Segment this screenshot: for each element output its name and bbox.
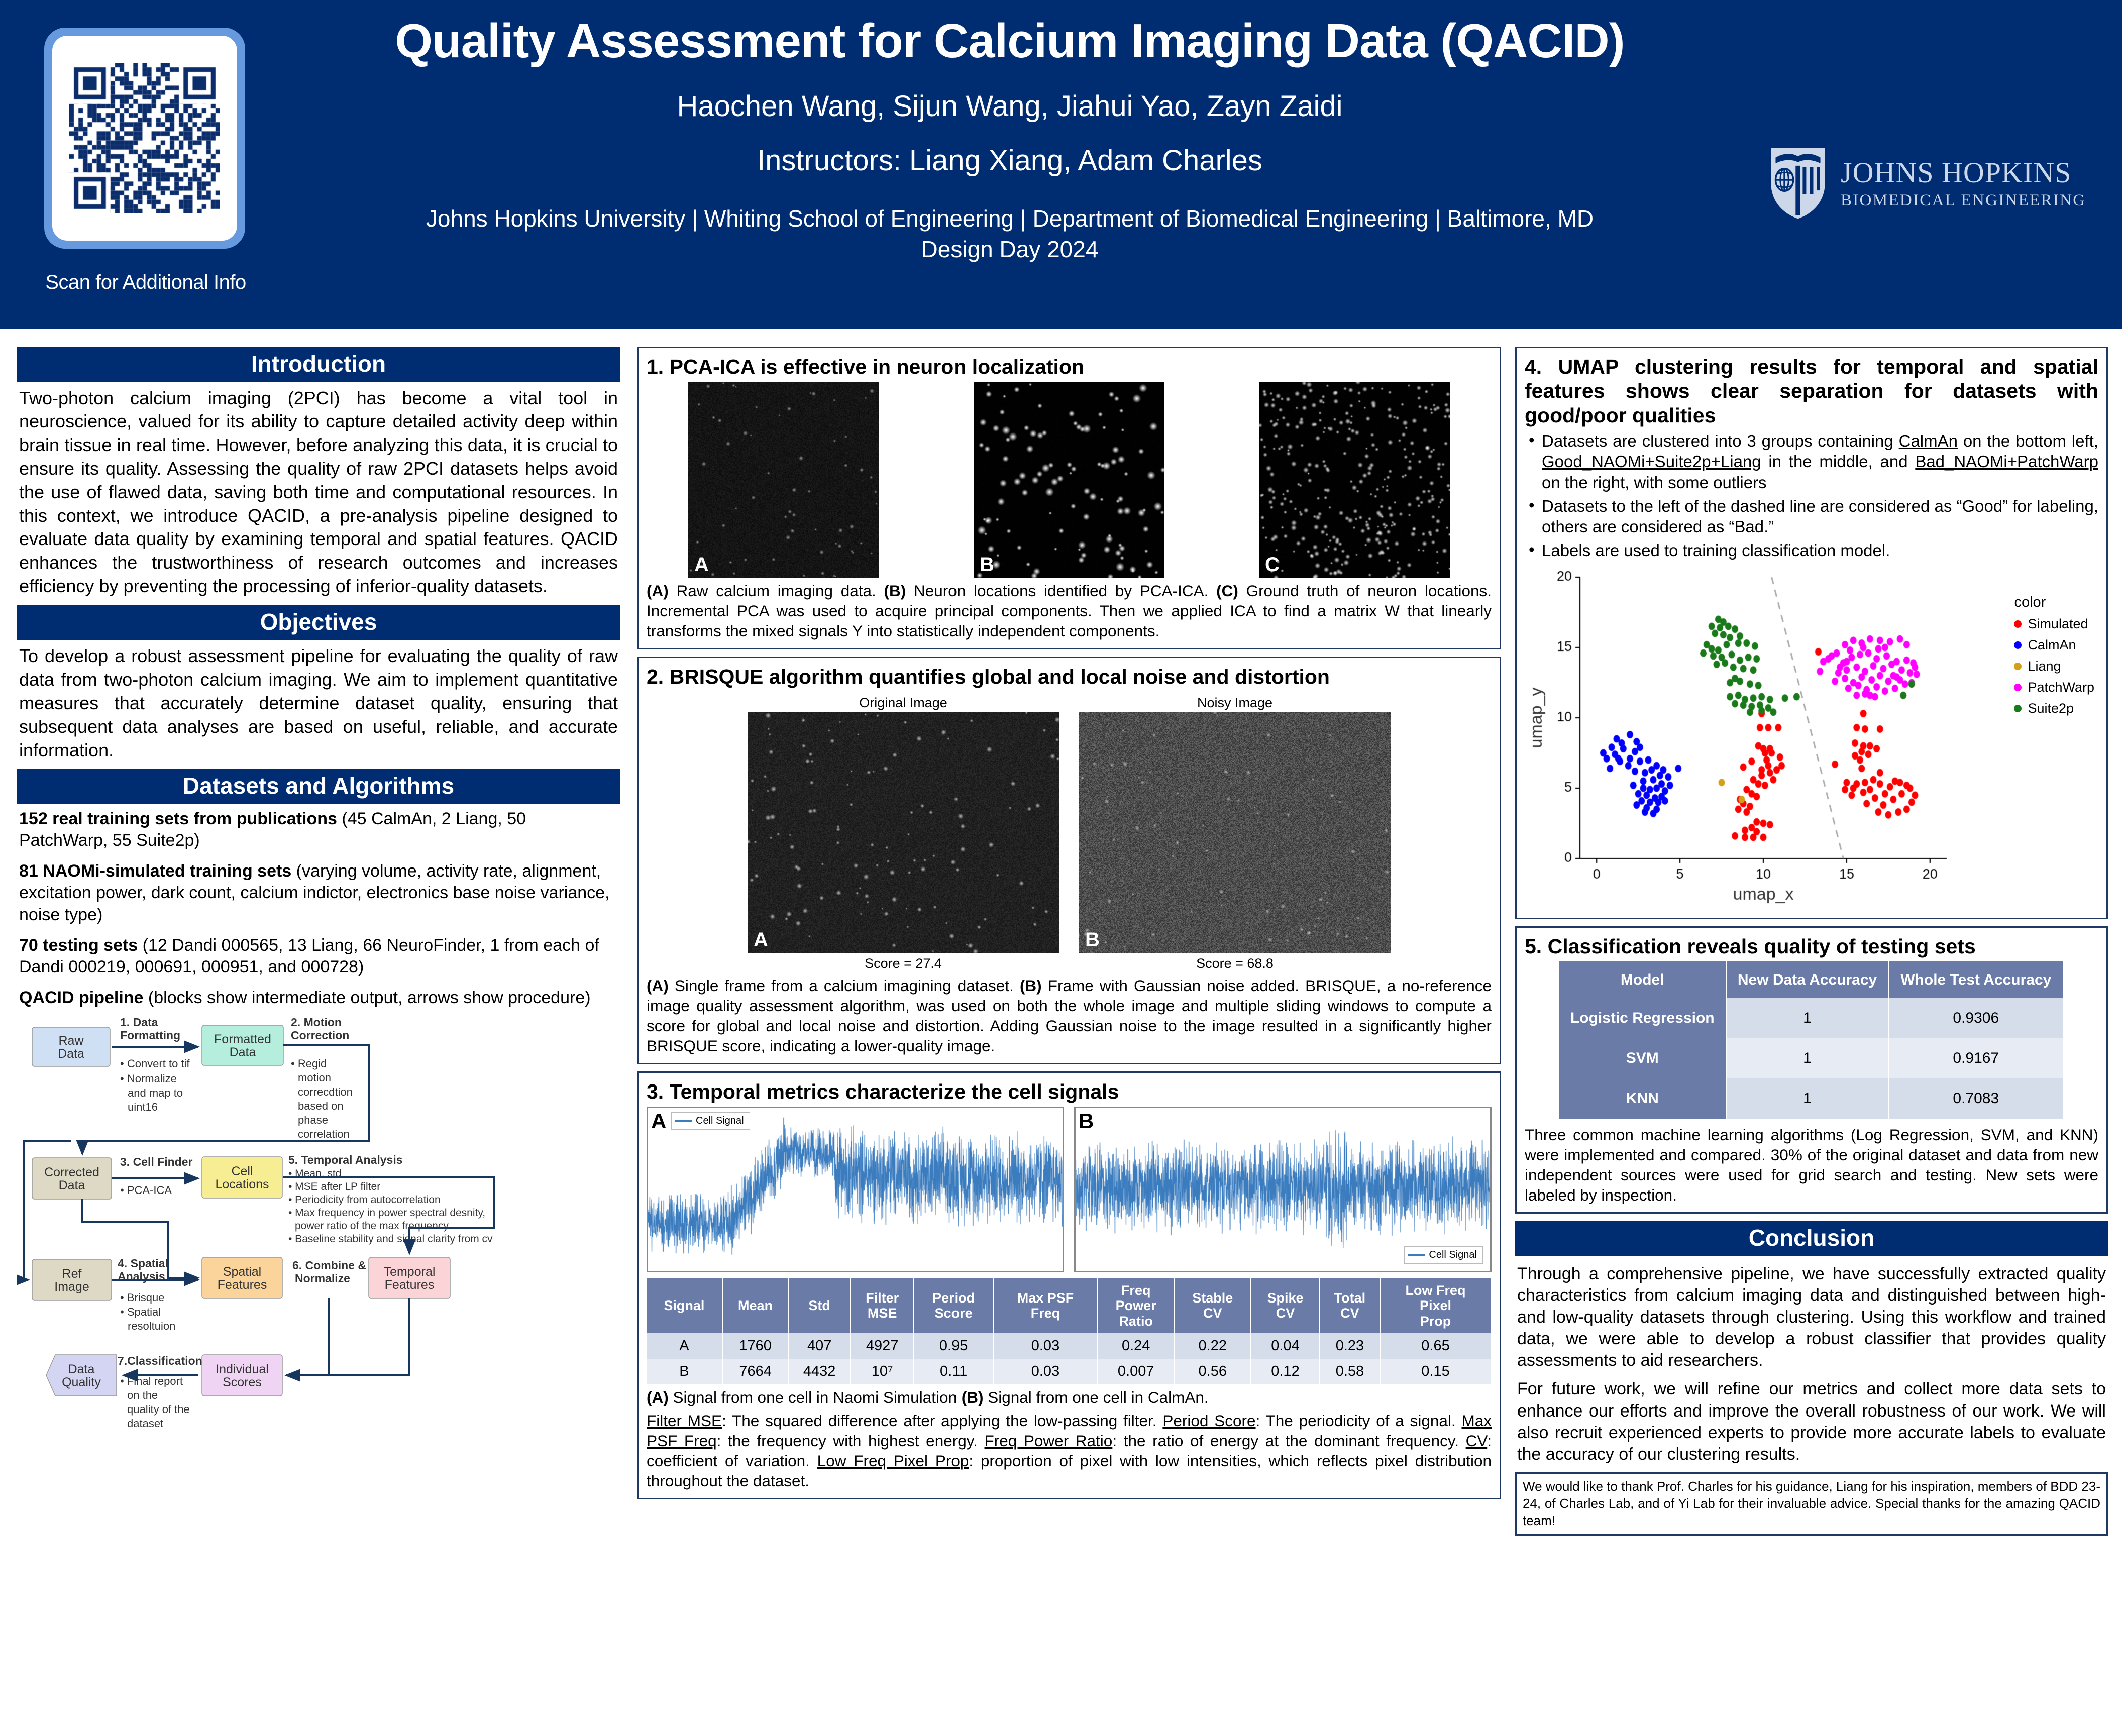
pipeline-node-qual: DataQuality (46, 1355, 117, 1396)
column-header: FilterMSE (851, 1278, 914, 1333)
event-line: Design Day 2024 (281, 234, 1738, 265)
pipeline-node-label: Ref (62, 1267, 82, 1281)
dataset-item-label: 152 real training sets from publications (19, 809, 337, 828)
pipeline-text: Formatting (120, 1029, 180, 1042)
pipeline-node-corr: CorrectedData (32, 1158, 112, 1199)
legend-label: Suite2p (2028, 701, 2074, 716)
pipeline-text: • Periodicity from autocorrelation (288, 1194, 441, 1206)
bullet-item: Labels are used to training classificati… (1525, 540, 2098, 561)
pipeline-text: motion (298, 1071, 331, 1084)
legend-color-dot (2014, 641, 2022, 649)
table-row: Logistic Regression10.9306 (1559, 998, 2064, 1038)
dataset-item: 152 real training sets from publications… (19, 808, 618, 852)
objectives-paragraph: To develop a robust assessment pipeline … (19, 644, 618, 762)
pipeline-text: • Convert to tif (120, 1057, 190, 1070)
pipeline-text: 4. Spatial (118, 1257, 168, 1270)
panel2-subcaption-right: Noisy Image (1079, 695, 1391, 711)
dataset-item: QACID pipeline (blocks show intermediate… (19, 987, 618, 1009)
bullet-item: Datasets are clustered into 3 groups con… (1525, 430, 2098, 493)
micrograph-label-b: B (980, 555, 994, 575)
brisque-score-left: Score = 27.4 (748, 956, 1059, 971)
pipeline-text: • PCA-ICA (120, 1184, 172, 1197)
legend-line-icon (675, 1120, 692, 1122)
table-body: A176040749270.950.030.240.220.040.230.65… (647, 1333, 1491, 1384)
temporal-metrics-table: SignalMeanStdFilterMSEPeriodScoreMax PSF… (647, 1278, 1492, 1384)
pipeline-arrow (286, 1298, 329, 1375)
panel3-caption: (A) Signal from one cell in Naomi Simula… (647, 1387, 1492, 1407)
classification-table: ModelNew Data AccuracyWhole Test Accurac… (1559, 961, 2064, 1119)
middle-column: 1. PCA-ICA is effective in neuron locali… (637, 347, 1501, 1506)
pipeline-text: Normalize (295, 1272, 350, 1285)
legend-item: Simulated (2014, 616, 2094, 632)
pipeline-text: 2. Motion (291, 1017, 342, 1029)
legend-color-dot (2014, 705, 2022, 712)
column-header: Std (788, 1278, 851, 1333)
panel1-image-row: A B C (647, 382, 1492, 578)
table-cell: 0.22 (1174, 1333, 1251, 1359)
pipeline-text: • Normalize (120, 1072, 177, 1085)
caption-label: (C) (1216, 582, 1238, 600)
panel1-caption: (A) Raw calcium imaging data. (B) Neuron… (647, 581, 1492, 641)
jhu-name: JOHNS HOPKINS (1841, 158, 2086, 187)
umap-legend: color SimulatedCalmAnLiangPatchWarpSuite… (2014, 594, 2094, 722)
column-header: Model (1559, 961, 1726, 998)
pipeline-text: • Regid (291, 1057, 327, 1070)
micrograph-label-a: A (694, 555, 709, 575)
pipeline-node-label: Corrected (44, 1165, 99, 1179)
table-cell: 0.007 (1098, 1359, 1175, 1384)
brisque-label-a: A (754, 930, 768, 950)
pipeline-node-label: Quality (62, 1375, 101, 1389)
brisque-image-original: A (748, 712, 1059, 953)
glossary-term: Low Freq Pixel Prop (817, 1452, 969, 1470)
pipeline-text: 3. Cell Finder (120, 1155, 192, 1168)
panel4-bullets: Datasets are clustered into 3 groups con… (1525, 430, 2098, 561)
pipeline-text: 6. Combine & (292, 1259, 366, 1272)
column-header: PeriodScore (914, 1278, 993, 1333)
pipeline-text: correcdtion (298, 1086, 353, 1098)
pipeline-node-label: Individual (216, 1362, 269, 1376)
datasets-list: 152 real training sets from publications… (17, 804, 620, 1009)
column-header: SpikeCV (1251, 1278, 1320, 1333)
jhu-wordmark: JOHNS HOPKINS BIOMEDICAL ENGINEERING (1841, 158, 2086, 209)
panel2-title: 2. BRISQUE algorithm quantifies global a… (647, 665, 1492, 689)
page-title: Quality Assessment for Calcium Imaging D… (281, 14, 1738, 68)
table-cell: 10⁷ (851, 1359, 914, 1384)
accuracy-cell: 1 (1726, 1078, 1888, 1119)
signal-b-legend-label: Cell Signal (1429, 1249, 1477, 1261)
pipeline-text: 7.Classification (118, 1354, 202, 1367)
table-cell: A (647, 1333, 722, 1359)
caption-label: (A) (647, 976, 669, 995)
table-cell: 4927 (851, 1333, 914, 1359)
legend-item: PatchWarp (2014, 680, 2094, 695)
table-cell: 1760 (722, 1333, 789, 1359)
accuracy-cell: 1 (1726, 998, 1888, 1038)
brisque-score-right: Score = 68.8 (1079, 956, 1391, 971)
pipeline-node-spat: SpatialFeatures (202, 1257, 282, 1298)
umap-legend-title: color (2014, 594, 2094, 611)
table-cell: 0.23 (1320, 1333, 1380, 1359)
table-body: Logistic Regression10.9306SVM10.9167KNN1… (1559, 998, 2064, 1119)
pipeline-text: Analysis (118, 1270, 165, 1283)
caption-label: (A) (647, 582, 669, 600)
pipeline-text: phase (298, 1114, 328, 1126)
signal-plot-b: B Cell Signal (1074, 1107, 1492, 1272)
pipeline-text: and map to (128, 1087, 183, 1099)
table-cell: 0.04 (1251, 1333, 1320, 1359)
pipeline-node-ref: RefImage (32, 1259, 112, 1300)
umap-legend-rows: SimulatedCalmAnLiangPatchWarpSuite2p (2014, 616, 2094, 716)
section-header-introduction: Introduction (17, 347, 620, 382)
section-header-conclusion: Conclusion (1515, 1221, 2108, 1256)
table-header-row: SignalMeanStdFilterMSEPeriodScoreMax PSF… (647, 1278, 1491, 1333)
column-header: TotalCV (1320, 1278, 1380, 1333)
column-header: Low FreqPixelProp (1380, 1278, 1491, 1333)
cluster-name: CalmAn (1899, 431, 1958, 450)
affiliation: Johns Hopkins University | Whiting Schoo… (281, 203, 1738, 264)
cluster-name: Bad_NAOMi+PatchWarp (1915, 452, 2098, 471)
pipeline-node-temp: TemporalFeatures (369, 1257, 450, 1298)
panel3-glossary: Filter MSE: The squared difference after… (647, 1410, 1492, 1491)
model-name-cell: SVM (1559, 1038, 1726, 1078)
umap-scatter-plot: color SimulatedCalmAnLiangPatchWarpSuite… (1525, 564, 2098, 911)
panel1-title: 1. PCA-ICA is effective in neuron locali… (647, 355, 1492, 379)
micrograph-raw: A (688, 382, 879, 578)
accuracy-cell: 1 (1726, 1038, 1888, 1078)
qacid-pipeline-diagram: RawDataFormattedDataCorrectedDataCellLoc… (17, 1017, 620, 1429)
pipeline-node-label: Scores (223, 1375, 262, 1389)
legend-label: Liang (2028, 659, 2061, 674)
qr-code-inner (52, 36, 237, 241)
column-header: FreqPowerRatio (1098, 1278, 1175, 1333)
panel-classification: 5. Classification reveals quality of tes… (1515, 926, 2108, 1214)
column-header: StableCV (1174, 1278, 1251, 1333)
panel2-left-col: Original Image A Score = 27.4 (748, 692, 1059, 972)
panel4-title: 4. UMAP clustering results for temporal … (1525, 355, 2098, 427)
legend-label: Simulated (2028, 616, 2088, 632)
affiliation-line: Johns Hopkins University | Whiting Schoo… (281, 203, 1738, 234)
poster-header: Scan for Additional Info Quality Assessm… (0, 0, 2122, 329)
micrograph-pcaica: B (974, 382, 1164, 578)
panel5-caption: Three common machine learning algorithms… (1525, 1125, 2098, 1205)
table-cell: 0.58 (1320, 1359, 1380, 1384)
pipeline-node-label: Features (385, 1278, 435, 1292)
panel2-subcaption-left: Original Image (748, 695, 1059, 711)
table-cell: 0.65 (1380, 1333, 1491, 1359)
panel5-title: 5. Classification reveals quality of tes… (1525, 934, 2098, 958)
pipeline-text: 1. Data (120, 1017, 158, 1029)
panel2-right-col: Noisy Image B Score = 68.8 (1079, 692, 1391, 972)
pipeline-text: power ratio of the max frequency (295, 1220, 449, 1232)
pipeline-text: • Baseline stability and signal clarity … (288, 1233, 493, 1245)
pipeline-node-scores: IndividualScores (202, 1355, 282, 1396)
instructor-list: Instructors: Liang Xiang, Adam Charles (281, 144, 1738, 177)
dataset-item: 81 NAOMi-simulated training sets (varyin… (19, 860, 618, 926)
title-block: Quality Assessment for Calcium Imaging D… (281, 14, 1738, 264)
signal-plot-a: A Cell Signal (647, 1107, 1064, 1272)
table-cell: 0.56 (1174, 1359, 1251, 1384)
introduction-text: Two-photon calcium imaging (2PCI) has be… (17, 382, 620, 598)
caption-label: (A) (647, 1388, 669, 1406)
model-name-cell: KNN (1559, 1078, 1726, 1119)
cluster-name: Good_NAOMi+Suite2p+Liang (1542, 452, 1761, 471)
caption-label: (B) (884, 582, 906, 600)
table-header-row: ModelNew Data AccuracyWhole Test Accurac… (1559, 961, 2064, 998)
accuracy-cell: 0.9306 (1888, 998, 2063, 1038)
pipeline-node-label: Data (230, 1045, 256, 1059)
legend-line-icon (1408, 1254, 1425, 1256)
pipeline-svg: RawDataFormattedDataCorrectedDataCellLoc… (17, 1017, 620, 1429)
column-header: Mean (722, 1278, 789, 1333)
pipeline-text: • MSE after LP filter (288, 1181, 380, 1192)
pipeline-node-label: Formatted (214, 1032, 271, 1046)
table-cell: 0.95 (914, 1333, 993, 1359)
acknowledgements: We would like to thank Prof. Charles for… (1515, 1472, 2108, 1535)
glossary-term: Filter MSE (647, 1412, 722, 1430)
panel-brisque: 2. BRISQUE algorithm quantifies global a… (637, 657, 1501, 1064)
micrograph-groundtruth: C (1259, 382, 1450, 578)
table-cell: B (647, 1359, 722, 1384)
table-cell: 0.24 (1098, 1333, 1175, 1359)
legend-color-dot (2014, 620, 2022, 628)
pipeline-text: correlation (298, 1128, 350, 1140)
legend-item: Liang (2014, 659, 2094, 674)
panel-umap: 4. UMAP clustering results for temporal … (1515, 347, 2108, 919)
column-header: Signal (647, 1278, 722, 1333)
legend-color-dot (2014, 684, 2022, 691)
table-row: B7664443210⁷0.110.030.0070.560.120.580.1… (647, 1359, 1491, 1384)
signal-label-b: B (1079, 1109, 1094, 1133)
column-header: Max PSFFreq (993, 1278, 1098, 1333)
conclusion-paragraph-1: Through a comprehensive pipeline, we hav… (1517, 1263, 2106, 1372)
caption-label: (B) (1020, 976, 1042, 995)
micrograph-label-c: C (1265, 555, 1280, 575)
table-cell: 0.12 (1251, 1359, 1320, 1384)
author-list: Haochen Wang, Sijun Wang, Jiahui Yao, Za… (281, 88, 1738, 125)
caption-label: (B) (962, 1388, 984, 1406)
glossary-term: Period Score (1162, 1412, 1255, 1430)
pipeline-arrow (286, 1298, 409, 1375)
brisque-image-noisy: B (1079, 712, 1391, 953)
jhu-department: BIOMEDICAL ENGINEERING (1841, 192, 2086, 209)
pipeline-text: based on (298, 1100, 344, 1112)
pipeline-node-label: Cell (231, 1164, 253, 1178)
introduction-paragraph: Two-photon calcium imaging (2PCI) has be… (19, 387, 618, 598)
table-row: A176040749270.950.030.240.220.040.230.65 (647, 1333, 1491, 1359)
pipeline-node-cells: CellLocations (202, 1157, 282, 1198)
signal-plot-row: A Cell Signal B Cell Signal (647, 1107, 1492, 1272)
model-name-cell: Logistic Regression (1559, 998, 1726, 1038)
table-cell: 407 (788, 1333, 851, 1359)
table-cell: 0.03 (993, 1333, 1098, 1359)
table-row: SVM10.9167 (1559, 1038, 2064, 1078)
legend-item: CalmAn (2014, 637, 2094, 653)
legend-label: CalmAn (2028, 637, 2076, 653)
qr-code-card[interactable] (44, 28, 245, 249)
pipeline-node-label: Data (59, 1178, 85, 1192)
signal-a-legend-label: Cell Signal (696, 1115, 744, 1127)
pipeline-node-label: Data (68, 1362, 95, 1376)
signal-label-a: A (651, 1109, 666, 1133)
table-cell: 0.11 (914, 1359, 993, 1384)
dataset-item-label: QACID pipeline (19, 988, 143, 1007)
dataset-item-label: 81 NAOMi-simulated training sets (19, 861, 291, 881)
pipeline-text: Correction (291, 1029, 349, 1042)
legend-color-dot (2014, 663, 2022, 670)
dataset-item-label: 70 testing sets (19, 936, 138, 955)
pipeline-text: • Max frequency in power spectral desnit… (288, 1207, 485, 1219)
accuracy-cell: 0.7083 (1888, 1078, 2063, 1119)
pipeline-text: • Brisque (120, 1291, 164, 1304)
pipeline-node-label: Locations (215, 1177, 269, 1191)
column-header: New Data Accuracy (1726, 961, 1888, 998)
jhu-shield-icon (1768, 146, 1828, 221)
jhu-logo: JOHNS HOPKINS BIOMEDICAL ENGINEERING (1768, 146, 2100, 221)
table-cell: 0.03 (993, 1359, 1098, 1384)
pipeline-node-label: Spatial (223, 1265, 261, 1279)
pipeline-text: uint16 (128, 1101, 158, 1113)
accuracy-cell: 0.9167 (1888, 1038, 2063, 1078)
bullet-item: Datasets to the left of the dashed line … (1525, 496, 2098, 537)
section-header-objectives: Objectives (17, 605, 620, 640)
legend-label: PatchWarp (2028, 680, 2094, 695)
table-row: KNN10.7083 (1559, 1078, 2064, 1119)
pipeline-text: on the (127, 1389, 158, 1401)
right-column: 4. UMAP clustering results for temporal … (1515, 347, 2108, 1536)
scan-label: Scan for Additional Info (15, 271, 276, 294)
pipeline-text: • Spatial (120, 1306, 161, 1318)
pipeline-node-label: Temporal (384, 1265, 436, 1279)
panel-temporal-metrics: 3. Temporal metrics characterize the cel… (637, 1071, 1501, 1499)
table-cell: 7664 (722, 1359, 789, 1384)
signal-b-legend: Cell Signal (1404, 1246, 1483, 1264)
pipeline-text: 5. Temporal Analysis (288, 1153, 403, 1166)
legend-item: Suite2p (2014, 701, 2094, 716)
left-column: Introduction Two-photon calcium imaging … (17, 347, 620, 1429)
panel2-caption: (A) Single frame from a calcium imaginin… (647, 975, 1492, 1056)
conclusion-text: Through a comprehensive pipeline, we hav… (1515, 1259, 2108, 1466)
qr-code-icon (69, 63, 220, 213)
pipeline-node-label: Data (58, 1047, 84, 1061)
glossary-term: Freq Power Ratio (985, 1432, 1113, 1450)
section-header-datasets: Datasets and Algorithms (17, 769, 620, 804)
pipeline-node-label: Raw (58, 1034, 84, 1048)
pipeline-text: resoltuion (128, 1320, 175, 1332)
panel2-image-row: Original Image A Score = 27.4 Noisy Imag… (647, 692, 1492, 972)
objectives-text: To develop a robust assessment pipeline … (17, 640, 620, 762)
dataset-item: 70 testing sets (12 Dandi 000565, 13 Lia… (19, 935, 618, 979)
pipeline-node-raw: RawData (32, 1027, 110, 1066)
pipeline-text: • Final report (120, 1375, 183, 1387)
brisque-label-b: B (1085, 930, 1100, 950)
table-cell: 0.15 (1380, 1359, 1491, 1384)
panel-pca-ica: 1. PCA-ICA is effective in neuron locali… (637, 347, 1501, 649)
pipeline-node-fmt: FormattedData (202, 1025, 283, 1065)
glossary-term: CV (1466, 1432, 1488, 1450)
pipeline-text: quality of the (127, 1403, 190, 1416)
pipeline-node-label: Image (54, 1280, 89, 1294)
column-header: Whole Test Accuracy (1888, 961, 2063, 998)
conclusion-paragraph-2: For future work, we will refine our metr… (1517, 1378, 2106, 1465)
signal-a-legend: Cell Signal (671, 1112, 750, 1130)
pipeline-text: dataset (127, 1417, 163, 1429)
panel3-title: 3. Temporal metrics characterize the cel… (647, 1079, 1492, 1104)
table-cell: 4432 (788, 1359, 851, 1384)
pipeline-node-label: Features (218, 1278, 267, 1292)
